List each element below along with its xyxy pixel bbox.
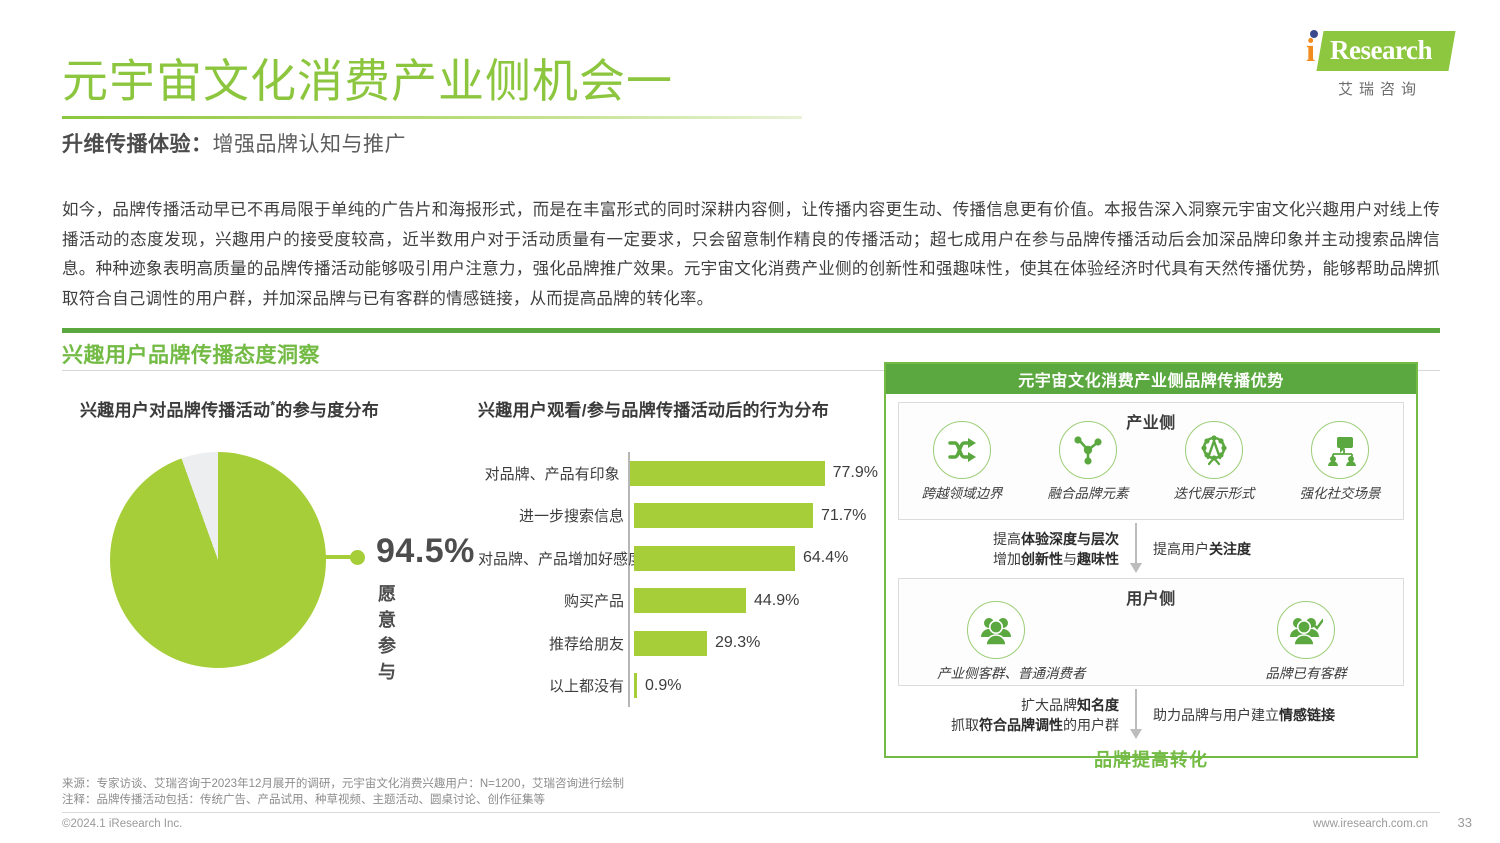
flow-mid-left-2b: 创新性 [1021,551,1063,567]
section-title: 兴趣用户品牌传播态度洞察 [62,339,320,369]
industry-item-label: 跨越领域边界 [903,482,1021,502]
industry-item-label: 迭代展示形式 [1155,482,1273,502]
bar-fill [634,673,637,698]
bar-row: 对品牌、产品有印象 77.9% [478,452,878,495]
user-item: 产业侧客群、普通消费者 [937,601,1055,682]
user-group-check-icon-glyph [1289,615,1323,645]
industry-icon-row: 跨越领域边界 融合品牌元素 [899,421,1403,502]
bar-category-label: 对品牌、产品有印象 [478,463,630,484]
page-number: 33 [1458,815,1472,830]
page-subtitle: 升维传播体验：增强品牌认知与推广 [62,128,406,158]
title-underline [62,116,802,119]
footnotes: 来源：专家访谈、艾瑞咨询于2023年12月展开的调研，元宇宙文化消费兴趣用户：N… [62,776,624,808]
pie-leader-dot-icon [350,550,365,565]
bar-value-label: 29.3% [715,634,760,652]
copyright-text: ©2024.1 iResearch Inc. [62,818,182,830]
logo-letter-i: i [1306,34,1315,68]
bar-category-label: 进一步搜索信息 [478,505,634,526]
bar-value-label: 44.9% [754,592,799,610]
footer-divider [62,812,1440,813]
flow-arrow-middle [1129,521,1143,577]
logo-chinese-name: 艾瑞咨询 [1302,78,1452,99]
flow-band-middle: 提高体验深度与层次 增加创新性与趣味性 提高用户关注度 [898,520,1404,578]
flow-band-bottom: 扩大品牌知名度 抓取符合品牌调性的用户群 助力品牌与用户建立情感链接 [898,686,1404,744]
bar-row: 推荐给朋友 29.3% [478,622,878,665]
bar-row: 以上都没有 0.9% [478,665,878,708]
bar-value-label: 77.9% [833,464,878,482]
bar-fill [634,503,813,528]
ferris-wheel-icon-glyph [1197,433,1231,467]
flow-mid-right-b: 关注度 [1209,541,1251,557]
flow-bottom-left: 扩大品牌知名度 抓取符合品牌调性的用户群 [919,695,1129,735]
bar-value-label: 64.4% [803,549,848,567]
pie-value-label: 94.5% [376,532,475,571]
pie-chart: 94.5% 愿意参与 [110,452,326,668]
industry-item: 强化社交场景 [1281,421,1399,502]
bar-fill [630,461,825,486]
flow-bot-right-a: 助力品牌与用户建立 [1153,707,1279,723]
pie-caption-label: 愿意参与 [378,580,397,684]
flow-mid-left-1b: 体验深度与层次 [1021,531,1119,547]
shuffle-icon-glyph [946,434,978,466]
user-item: 品牌已有客群 [1247,601,1365,682]
flow-mid-left-1a: 提高 [993,531,1021,547]
flow-bot-left-2a: 抓取 [951,717,979,733]
bar-fill [634,631,707,656]
shuffle-icon [933,421,991,479]
bar-category-label: 购买产品 [478,590,634,611]
pie-chart-title-tail: 的参与度分布 [275,401,379,420]
bar-track: 64.4% [634,537,878,580]
flow-mid-right-a: 提高用户 [1153,541,1209,557]
flow-middle-left: 提高体验深度与层次 增加创新性与趣味性 [919,529,1129,569]
pie-chart-title-main: 兴趣用户对品牌传播活动 [80,401,270,420]
social-chat-icon [1311,421,1369,479]
panel-body: 产业侧 跨越领域边界 [886,394,1416,756]
arrow-down-icon [1130,729,1142,739]
industry-item: 跨越领域边界 [903,421,1021,502]
footnote-source: 来源：专家访谈、艾瑞咨询于2023年12月展开的调研，元宇宙文化消费兴趣用户：N… [62,776,624,792]
industry-item-label: 强化社交场景 [1281,482,1399,502]
bar-row: 购买产品 44.9% [478,580,878,623]
pie-chart-title: 兴趣用户对品牌传播活动*的参与度分布 [80,396,379,421]
page-title: 元宇宙文化消费产业侧机会一 [62,52,673,110]
bar-chart-title: 兴趣用户观看/参与品牌传播活动后的行为分布 [478,396,829,421]
flow-bot-right-b: 情感链接 [1279,707,1335,723]
user-group-icon [967,601,1025,659]
ferris-wheel-icon [1185,421,1243,479]
bar-category-label: 对品牌、产品增加好感度 [478,548,634,569]
bar-value-label: 0.9% [645,677,681,695]
user-group-check-icon [1277,601,1335,659]
advantages-panel: 元宇宙文化消费产业侧品牌传播优势 产业侧 [884,362,1418,758]
intro-paragraph: 如今，品牌传播活动早已不再局限于单纯的广告片和海报形式，而是在丰富形式的同时深耕… [62,196,1440,314]
user-item-label: 产业侧客群、普通消费者 [937,662,1055,682]
bar-track: 44.9% [634,580,878,623]
bar-chart: 对品牌、产品有印象 77.9% 进一步搜索信息 71.7% 对品牌、产品增加好感… [478,452,878,707]
bar-category-label: 推荐给朋友 [478,633,634,654]
industry-item-label: 融合品牌元素 [1029,482,1147,502]
footnote-note: 注释：品牌传播活动包括：传统广告、产品试用、种草视频、主题活动、圆桌讨论、创作征… [62,792,624,808]
page-subtitle-strong: 升维传播体验： [62,133,213,156]
bar-row: 对品牌、产品增加好感度 64.4% [478,537,878,580]
industry-item: 融合品牌元素 [1029,421,1147,502]
flow-mid-left-2a: 增加 [993,551,1021,567]
bar-fill [634,546,795,571]
bar-row: 进一步搜索信息 71.7% [478,495,878,538]
bar-fill [634,588,746,613]
page-subtitle-rest: 增强品牌认知与推广 [213,133,407,156]
user-group-icon-glyph [980,615,1012,645]
bar-value-label: 71.7% [821,507,866,525]
user-side-box: 用户侧 产业侧客群 [898,578,1404,686]
merge-nodes-icon-glyph [1072,434,1104,466]
bar-track: 71.7% [634,495,878,538]
flow-bot-left-1b: 知名度 [1077,697,1119,713]
bar-category-label: 以上都没有 [478,675,634,696]
report-slide: i Research 艾瑞咨询 元宇宙文化消费产业侧机会一 升维传播体验：增强品… [0,0,1500,843]
flow-divider-line [1135,523,1137,565]
flow-bottom-right: 助力品牌与用户建立情感链接 [1143,705,1383,725]
pie-slices [110,452,326,668]
section-band [62,328,1440,333]
flow-arrow-bottom [1129,687,1143,743]
flow-bot-left-2b: 符合品牌调性 [979,717,1063,733]
bar-track: 77.9% [630,452,878,495]
panel-header: 元宇宙文化消费产业侧品牌传播优势 [886,364,1416,394]
flow-middle-right: 提高用户关注度 [1143,539,1383,559]
arrow-down-icon [1130,563,1142,573]
user-item-label: 品牌已有客群 [1247,662,1365,682]
user-icon-row: 产业侧客群、普通消费者 [899,601,1403,682]
merge-nodes-icon [1059,421,1117,479]
panel-final-label: 品牌提高转化 [898,746,1404,772]
social-chat-icon-glyph [1324,434,1356,466]
flow-bot-left-2c: 的用户群 [1063,717,1119,733]
flow-mid-left-2d: 趣味性 [1077,551,1119,567]
industry-side-box: 产业侧 跨越领域边界 [898,402,1404,520]
logo-mark: i Research [1302,28,1452,74]
industry-item: 迭代展示形式 [1155,421,1273,502]
bar-track: 0.9% [634,665,878,708]
flow-bot-left-1a: 扩大品牌 [1021,697,1077,713]
flow-mid-left-2c: 与 [1063,551,1077,567]
bar-track: 29.3% [634,622,878,665]
website-url: www.iresearch.com.cn [1313,818,1428,830]
flow-divider-line [1135,689,1137,731]
logo-wordmark: Research [1330,35,1432,66]
iresearch-logo: i Research 艾瑞咨询 [1302,28,1452,99]
